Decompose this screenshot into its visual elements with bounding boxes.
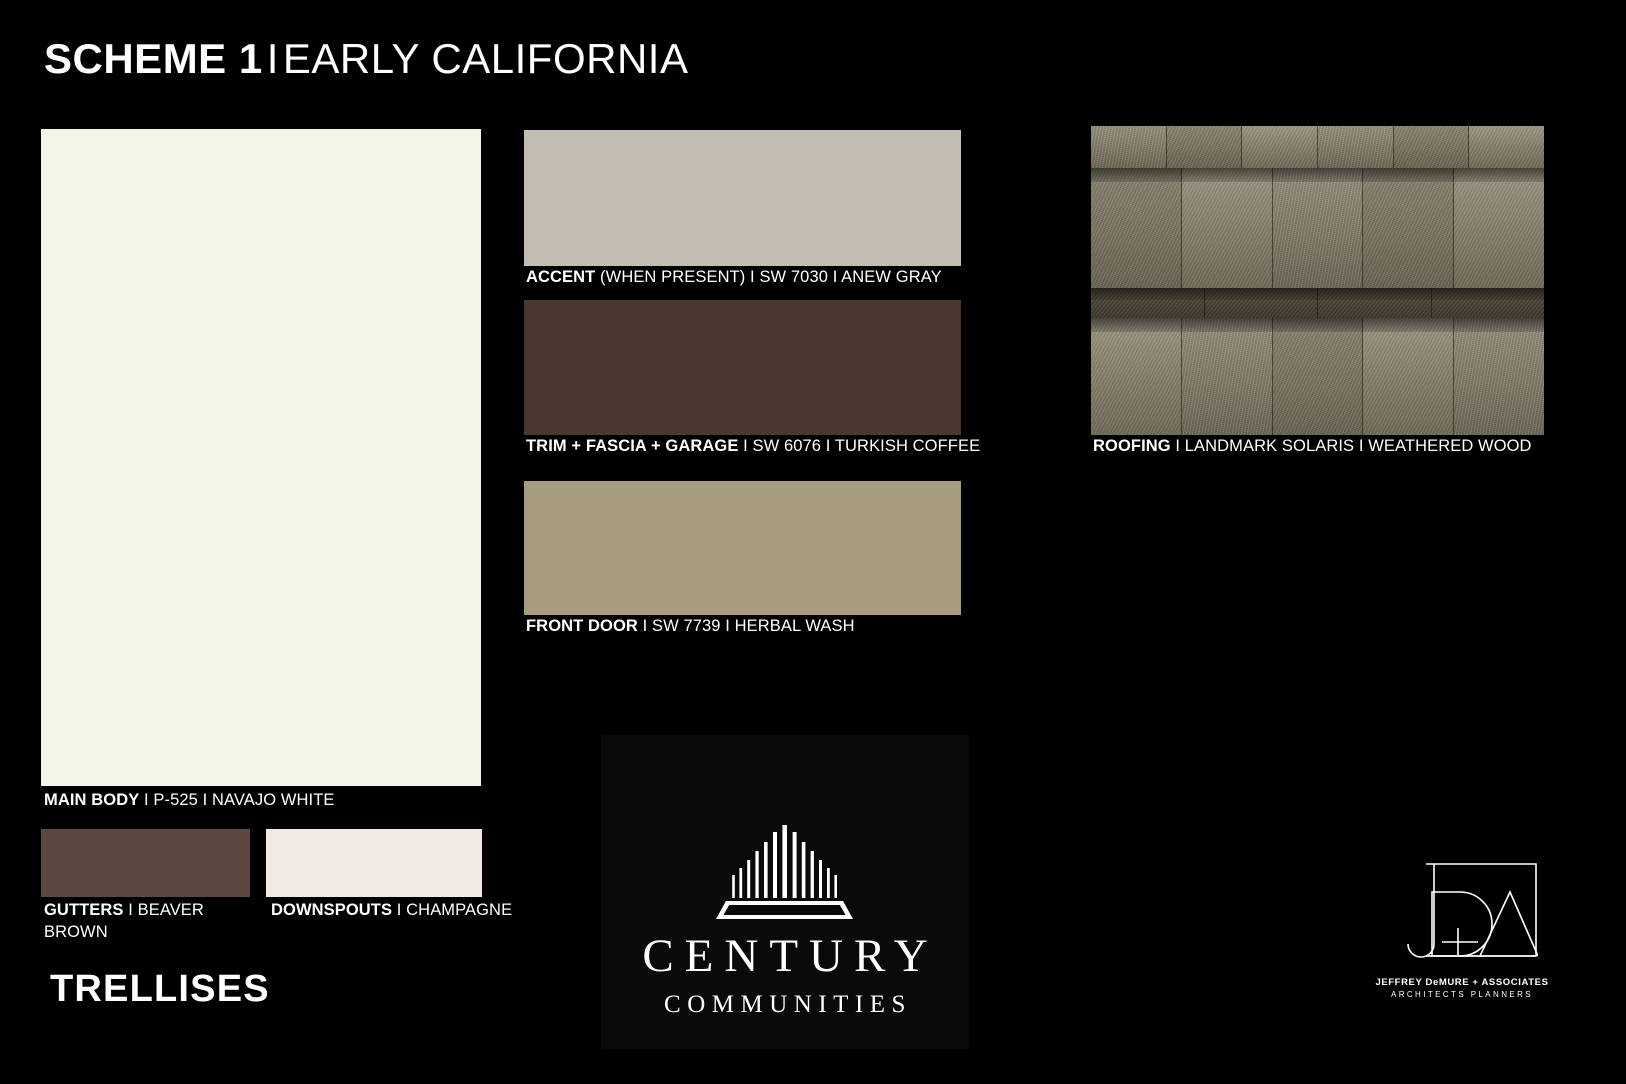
swatch-trim-fascia-garage — [524, 300, 961, 435]
swatch-downspouts — [266, 829, 482, 897]
jda-logo: JEFFREY DeMURE + ASSOCIATES ARCHITECTS P… — [1371, 852, 1553, 1027]
jda-firm-name: JEFFREY DeMURE + ASSOCIATES — [1371, 977, 1553, 988]
page-title: SCHEME 1IEARLY CALIFORNIA — [44, 36, 688, 82]
swatch-roofing — [1091, 126, 1544, 435]
label-trim-code: SW 6076 — [753, 437, 822, 455]
jda-monogram-icon — [1386, 852, 1538, 970]
label-gutters-name: GUTTERS — [44, 901, 124, 919]
label-accent: ACCENT (WHEN PRESENT) I SW 7030 I ANEW G… — [526, 267, 942, 289]
label-main-body: MAIN BODY I P-525 I NAVAJO WHITE — [44, 790, 335, 812]
label-gutters: GUTTERS I BEAVER BROWN — [44, 900, 259, 944]
label-front-door: FRONT DOOR I SW 7739 I HERBAL WASH — [526, 616, 855, 638]
label-front-door-name: FRONT DOOR — [526, 617, 638, 635]
label-main-body-sep2: I — [198, 791, 212, 809]
label-main-body-name: MAIN BODY — [44, 791, 139, 809]
label-main-body-color: NAVAJO WHITE — [212, 791, 335, 809]
jda-disciplines: ARCHITECTS PLANNERS — [1371, 990, 1553, 999]
label-front-door-sep1: I — [638, 617, 652, 635]
label-roofing-color: WEATHERED WOOD — [1368, 437, 1531, 455]
label-accent-sep1: I — [745, 268, 759, 286]
color-scheme-board: SCHEME 1IEARLY CALIFORNIA MAIN BODY I P-… — [0, 0, 1626, 1084]
shingle-row — [1091, 126, 1544, 168]
trellises-heading: TRELLISES — [50, 968, 270, 1011]
label-trim-sep2: I — [821, 437, 835, 455]
swatch-front-door — [524, 481, 961, 615]
label-downspouts-sep1: I — [392, 901, 406, 919]
label-accent-color: ANEW GRAY — [841, 268, 942, 286]
label-front-door-sep2: I — [721, 617, 735, 635]
shingle-row — [1091, 318, 1544, 435]
label-front-door-code: SW 7739 — [652, 617, 721, 635]
label-roofing-product: LANDMARK SOLARIS — [1185, 437, 1354, 455]
century-subtitle: COMMUNITIES — [664, 992, 912, 1017]
swatch-main-body — [41, 129, 481, 786]
label-roofing-sep2: I — [1354, 437, 1368, 455]
swatch-gutters — [41, 829, 250, 897]
label-downspouts-color: CHAMPAGNE — [406, 901, 512, 919]
label-accent-name: ACCENT — [526, 268, 595, 286]
title-name: EARLY CALIFORNIA — [283, 35, 689, 82]
label-main-body-sep1: I — [139, 791, 153, 809]
label-trim-name: TRIM + FASCIA + GARAGE — [526, 437, 738, 455]
label-roofing-name: ROOFING — [1093, 437, 1171, 455]
label-gutters-sep1: I — [124, 901, 138, 919]
title-separator: I — [263, 35, 283, 82]
label-accent-sep2: I — [828, 268, 841, 286]
shingle-row — [1091, 288, 1544, 318]
century-wordmark: CENTURY — [642, 933, 938, 980]
shingle-row — [1091, 168, 1544, 288]
label-trim-sep1: I — [738, 437, 752, 455]
label-downspouts: DOWNSPOUTS I CHAMPAGNE — [271, 900, 531, 922]
label-roofing: ROOFING I LANDMARK SOLARIS I WEATHERED W… — [1093, 436, 1532, 458]
label-trim-color: TURKISH COFFEE — [835, 437, 980, 455]
label-main-body-code: P-525 — [153, 791, 198, 809]
label-accent-qualifier: (WHEN PRESENT) — [600, 268, 745, 286]
swatch-accent — [524, 130, 961, 266]
label-accent-code: SW 7030 — [759, 268, 828, 286]
label-front-door-color: HERBAL WASH — [735, 617, 855, 635]
label-trim-fascia-garage: TRIM + FASCIA + GARAGE I SW 6076 I TURKI… — [526, 436, 980, 458]
century-communities-logo: CENTURY COMMUNITIES — [601, 735, 969, 1049]
label-downspouts-name: DOWNSPOUTS — [271, 901, 392, 919]
colonnade-icon — [690, 823, 880, 919]
label-roofing-sep1: I — [1171, 437, 1185, 455]
title-scheme: SCHEME 1 — [44, 35, 263, 82]
